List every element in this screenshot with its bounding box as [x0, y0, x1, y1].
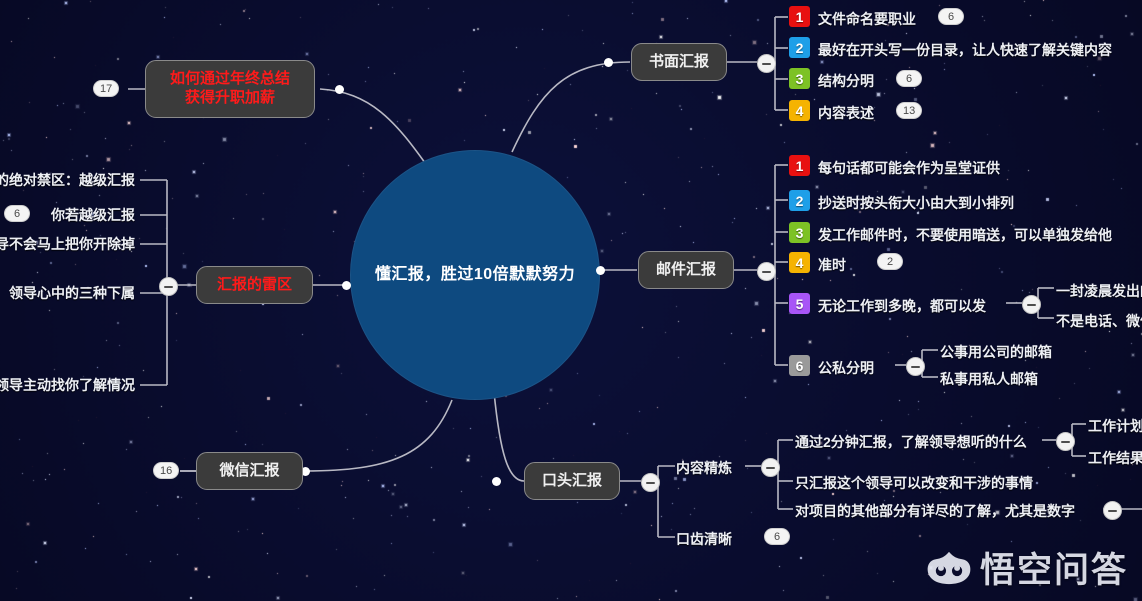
leaf-written-2[interactable]: 最好在开头写一份目录，让人快速了解关键内容: [818, 40, 1112, 60]
leaf-label: 工作计划: [1088, 418, 1142, 434]
count-badge-written-1[interactable]: 6: [938, 8, 964, 25]
node-wechat-report[interactable]: 微信汇报: [196, 452, 303, 490]
count-badge-value: 2: [887, 256, 893, 268]
num-badge-written-3: 3: [789, 68, 810, 89]
node-written-report[interactable]: 书面汇报: [631, 43, 727, 81]
leaf-label: 通过2分钟汇报，了解领导想听的什么: [795, 434, 1027, 450]
num-badge-value: 4: [796, 255, 804, 271]
leaf-verbal-2[interactable]: 口齿清晰: [676, 529, 732, 549]
count-badge-value: 6: [774, 531, 780, 543]
num-badge-email-2: 2: [789, 190, 810, 211]
leaf-label: 准时: [818, 257, 846, 273]
collapse-toggle-written[interactable]: [757, 54, 776, 73]
leaf-email-5-sub-2[interactable]: 不是电话、微信: [1056, 311, 1142, 331]
leaf-email-6-sub-2[interactable]: 私事用私人邮箱: [940, 369, 1038, 389]
leaf-label: 的绝对禁区：越级汇报: [0, 172, 135, 188]
count-badge-email-4[interactable]: 2: [877, 253, 903, 270]
wukong-logo-icon: [927, 550, 971, 586]
leaf-label: 对项目的其他部分有详尽的了解，尤其是数字: [795, 503, 1075, 519]
leaf-label: 抄送时按头衔大小由大到小排列: [818, 195, 1014, 211]
leaf-label: 无论工作到多晚，都可以发: [818, 298, 986, 314]
leaf-label: 文件命名要职业: [818, 11, 916, 27]
leaf-work-result[interactable]: 工作结果: [1088, 448, 1142, 468]
connector-dot: [596, 266, 605, 275]
leaf-minefield-2[interactable]: 你若越级汇报: [51, 205, 135, 225]
watermark-label: 悟空问答: [980, 542, 1128, 593]
leaf-label: 口齿清晰: [676, 531, 732, 547]
leaf-verbal-1[interactable]: 内容精炼: [676, 458, 732, 478]
leaf-verbal-1-sub-3[interactable]: 对项目的其他部分有详尽的了解，尤其是数字: [795, 501, 1075, 521]
leaf-email-6[interactable]: 公私分明: [818, 358, 874, 378]
count-badge-value: 6: [906, 73, 912, 85]
leaf-label: 公事用公司的邮箱: [940, 344, 1052, 360]
num-badge-value: 4: [796, 103, 804, 119]
leaf-label: 私事用私人邮箱: [940, 371, 1038, 387]
leaf-email-6-sub-1[interactable]: 公事用公司的邮箱: [940, 342, 1052, 362]
collapse-toggle-email-5[interactable]: [1022, 295, 1041, 314]
leaf-label: 领导主动找你了解情况: [0, 377, 135, 393]
leaf-label: 每句话都可能会作为呈堂证供: [818, 160, 1000, 176]
node-email-report-label: 邮件汇报: [656, 261, 716, 280]
num-badge-written-4: 4: [789, 100, 810, 121]
count-badge-value: 6: [14, 208, 20, 220]
collapse-toggle-email-6[interactable]: [906, 357, 925, 376]
num-badge-value: 2: [796, 40, 804, 56]
leaf-label: 你若越级汇报: [51, 207, 135, 223]
node-written-report-label: 书面汇报: [649, 53, 709, 72]
leaf-label: 不是电话、微信: [1056, 313, 1142, 329]
leaf-label: 导不会马上把你开除掉: [0, 236, 135, 252]
leaf-label: 公私分明: [818, 360, 874, 376]
num-badge-value: 1: [796, 158, 804, 174]
leaf-email-4[interactable]: 准时: [818, 255, 846, 275]
leaf-minefield-4[interactable]: 领导心中的三种下属: [9, 283, 135, 303]
num-badge-value: 3: [796, 71, 804, 87]
mindmap-canvas: 懂汇报，胜过10倍默默努力 17 如何通过年终总结 获得升职加薪 汇报的雷区 的…: [0, 0, 1142, 601]
count-badge-value: 6: [948, 11, 954, 23]
leaf-label: 结构分明: [818, 73, 874, 89]
connector-dot: [604, 58, 613, 67]
leaf-minefield-3[interactable]: 导不会马上把你开除掉: [0, 234, 135, 254]
watermark: 悟空问答: [927, 542, 1128, 593]
leaf-email-5[interactable]: 无论工作到多晚，都可以发: [818, 296, 986, 316]
count-badge-wechat[interactable]: 16: [153, 462, 179, 479]
leaf-label: 只汇报这个领导可以改变和干涉的事情: [795, 475, 1033, 491]
collapse-toggle-minefield[interactable]: [159, 277, 178, 296]
node-verbal-report[interactable]: 口头汇报: [524, 462, 620, 500]
num-badge-value: 1: [796, 9, 804, 25]
leaf-label: 内容表述: [818, 105, 874, 121]
count-badge-top-left[interactable]: 17: [93, 80, 119, 97]
leaf-email-1[interactable]: 每句话都可能会作为呈堂证供: [818, 158, 1000, 178]
count-badge-written-3[interactable]: 6: [896, 70, 922, 87]
node-annual-summary-label: 如何通过年终总结 获得升职加薪: [170, 70, 290, 108]
num-badge-written-1: 1: [789, 6, 810, 27]
count-badge-value: 17: [100, 83, 112, 95]
num-badge-value: 5: [796, 296, 804, 312]
leaf-email-5-sub-1[interactable]: 一封凌晨发出的: [1056, 281, 1142, 301]
node-wechat-report-label: 微信汇报: [219, 462, 279, 481]
leaf-verbal-1-sub-2[interactable]: 只汇报这个领导可以改变和干涉的事情: [795, 473, 1033, 493]
node-report-minefield[interactable]: 汇报的雷区: [196, 266, 313, 304]
leaf-label: 最好在开头写一份目录，让人快速了解关键内容: [818, 42, 1112, 58]
leaf-label: 一封凌晨发出的: [1056, 283, 1142, 299]
num-badge-value: 3: [796, 225, 804, 241]
leaf-work-plan[interactable]: 工作计划: [1088, 416, 1142, 436]
node-annual-summary[interactable]: 如何通过年终总结 获得升职加薪: [145, 60, 315, 118]
collapse-toggle-verbal[interactable]: [641, 473, 660, 492]
leaf-written-4[interactable]: 内容表述: [818, 103, 874, 123]
connector-dot: [492, 477, 501, 486]
count-badge-verbal-2[interactable]: 6: [764, 528, 790, 545]
count-badge-written-4[interactable]: 13: [896, 102, 922, 119]
leaf-email-3[interactable]: 发工作邮件时，不要使用暗送，可以单独发给他: [818, 225, 1112, 245]
leaf-email-2[interactable]: 抄送时按头衔大小由大到小排列: [818, 193, 1014, 213]
num-badge-email-5: 5: [789, 293, 810, 314]
center-node[interactable]: 懂汇报，胜过10倍默默努力: [350, 150, 600, 400]
count-badge-value: 13: [903, 105, 915, 117]
collapse-toggle-verbal-1-sub-1[interactable]: [1056, 432, 1075, 451]
num-badge-email-3: 3: [789, 222, 810, 243]
collapse-toggle-email[interactable]: [757, 262, 776, 281]
leaf-label: 工作结果: [1088, 450, 1142, 466]
connector-dot: [342, 281, 351, 290]
node-verbal-report-label: 口头汇报: [542, 472, 602, 491]
leaf-verbal-1-sub-1[interactable]: 通过2分钟汇报，了解领导想听的什么: [795, 432, 1027, 452]
num-badge-value: 6: [796, 358, 804, 374]
connector-dot: [335, 85, 344, 94]
count-badge-value: 16: [160, 465, 172, 477]
node-email-report[interactable]: 邮件汇报: [638, 251, 734, 289]
collapse-toggle-verbal-1-sub-3[interactable]: [1103, 501, 1122, 520]
leaf-written-1[interactable]: 文件命名要职业: [818, 9, 916, 29]
count-badge-minefield-2[interactable]: 6: [4, 205, 30, 222]
num-badge-written-2: 2: [789, 37, 810, 58]
node-report-minefield-label: 汇报的雷区: [217, 276, 292, 295]
leaf-minefield-1[interactable]: 的绝对禁区：越级汇报: [0, 170, 135, 190]
num-badge-value: 2: [796, 193, 804, 209]
leaf-label: 领导心中的三种下属: [9, 285, 135, 301]
center-node-label: 懂汇报，胜过10倍默默努力: [375, 265, 575, 284]
leaf-label: 发工作邮件时，不要使用暗送，可以单独发给他: [818, 227, 1112, 243]
collapse-toggle-verbal-1[interactable]: [761, 458, 780, 477]
num-badge-email-1: 1: [789, 155, 810, 176]
leaf-minefield-5[interactable]: 领导主动找你了解情况: [0, 375, 135, 395]
leaf-written-3[interactable]: 结构分明: [818, 71, 874, 91]
num-badge-email-4: 4: [789, 252, 810, 273]
num-badge-email-6: 6: [789, 355, 810, 376]
leaf-label: 内容精炼: [676, 460, 732, 476]
